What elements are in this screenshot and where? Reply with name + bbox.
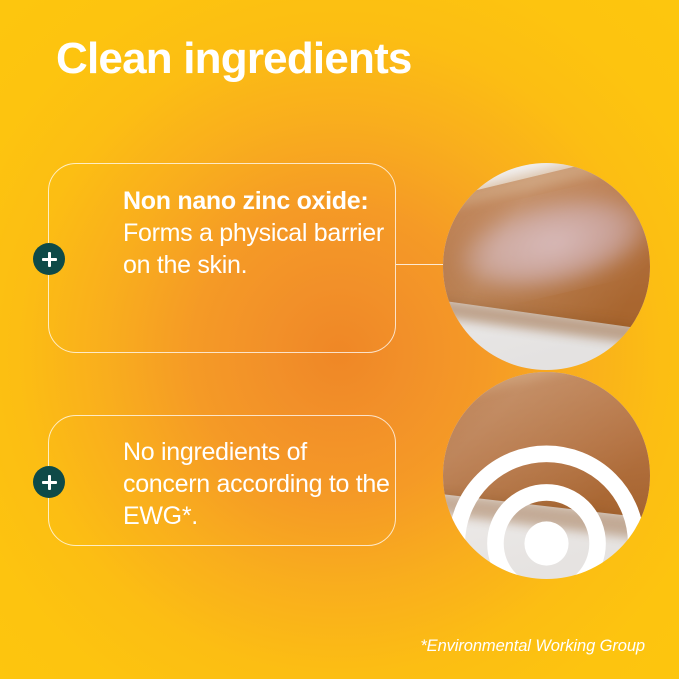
card-body-text: Forms a physical barrier on the skin. xyxy=(123,218,391,282)
card-text: No ingredients of concern according to t… xyxy=(123,437,391,532)
feature-card-ewg: No ingredients of concern according to t… xyxy=(48,415,396,546)
connector-line xyxy=(396,264,448,265)
card-text: Non nano zinc oxide: Forms a physical ba… xyxy=(123,186,391,281)
plus-icon xyxy=(33,466,65,498)
photo-sunscreen-swatch xyxy=(443,163,650,370)
feature-card-zinc-oxide: Non nano zinc oxide: Forms a physical ba… xyxy=(48,163,396,353)
card-lead-text: Non nano zinc oxide: xyxy=(123,186,391,218)
photo-top-graphic xyxy=(443,163,650,370)
card-body-text: No ingredients of concern according to t… xyxy=(123,437,391,532)
clean-ingredients-infographic: Clean ingredients Non nano zinc oxide: F… xyxy=(0,0,679,679)
page-title: Clean ingredients xyxy=(56,34,412,84)
plus-glyph xyxy=(42,252,57,267)
footnote: *Environmental Working Group xyxy=(420,637,645,656)
photo-no-white-cast: No white cast xyxy=(443,372,650,579)
photo-bottom-graphic xyxy=(443,372,650,579)
plus-icon xyxy=(33,243,65,275)
plus-glyph xyxy=(42,475,57,490)
